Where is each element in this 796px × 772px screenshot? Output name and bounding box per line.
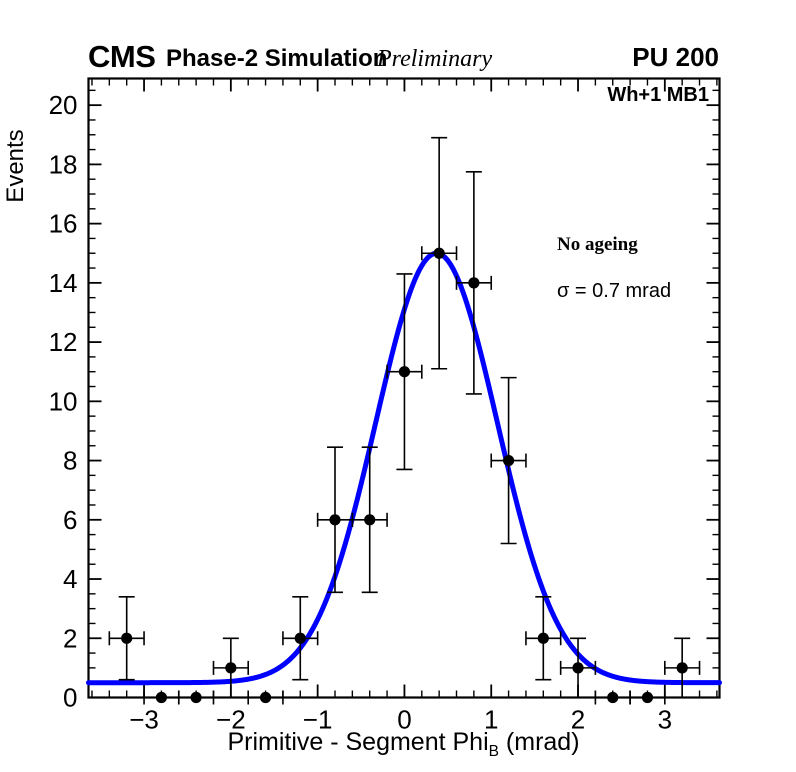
x-tick-label: 1 bbox=[484, 705, 498, 735]
data-point-marker bbox=[329, 514, 340, 525]
data-point-marker bbox=[503, 455, 514, 466]
y-tick-label: 20 bbox=[49, 90, 78, 120]
data-point-marker bbox=[538, 633, 549, 644]
data-point-marker bbox=[677, 662, 688, 673]
y-tick-label: 2 bbox=[63, 623, 77, 653]
data-point-marker bbox=[572, 662, 583, 673]
data-point-marker bbox=[434, 248, 445, 259]
data-point-marker bbox=[642, 692, 653, 703]
x-axis-tick-labels: −3−2−10123 bbox=[129, 705, 672, 735]
x-tick-label: −1 bbox=[303, 705, 333, 735]
data-point-marker bbox=[191, 692, 202, 703]
data-point-marker bbox=[260, 692, 271, 703]
data-error-bars bbox=[109, 138, 699, 705]
y-tick-label: 10 bbox=[49, 386, 78, 416]
data-point-marker bbox=[399, 366, 410, 377]
data-point-marker bbox=[468, 277, 479, 288]
y-tick-label: 16 bbox=[49, 209, 78, 239]
y-tick-label: 18 bbox=[49, 149, 78, 179]
y-tick-label: 14 bbox=[49, 268, 78, 298]
data-point-marker bbox=[607, 692, 618, 703]
data-point-marker bbox=[121, 633, 132, 644]
plot-area: −3−2−10123 02468101214161820 bbox=[0, 0, 796, 772]
data-point-marker bbox=[156, 692, 167, 703]
x-tick-label: −2 bbox=[216, 705, 246, 735]
x-tick-label: 0 bbox=[397, 705, 411, 735]
y-tick-label: 4 bbox=[63, 564, 77, 594]
y-axis-tick-labels: 02468101214161820 bbox=[49, 90, 78, 712]
data-point-marker bbox=[364, 514, 375, 525]
y-tick-label: 0 bbox=[63, 683, 77, 713]
y-tick-label: 8 bbox=[63, 446, 77, 476]
x-tick-label: 3 bbox=[658, 705, 672, 735]
plot-canvas: CMS Phase-2 Simulation Preliminary PU 20… bbox=[0, 0, 796, 772]
data-point-marker bbox=[295, 633, 306, 644]
x-tick-label: 2 bbox=[571, 705, 585, 735]
y-tick-label: 6 bbox=[63, 505, 77, 535]
y-tick-label: 12 bbox=[49, 327, 78, 357]
data-point-marker bbox=[225, 662, 236, 673]
x-tick-label: −3 bbox=[129, 705, 159, 735]
